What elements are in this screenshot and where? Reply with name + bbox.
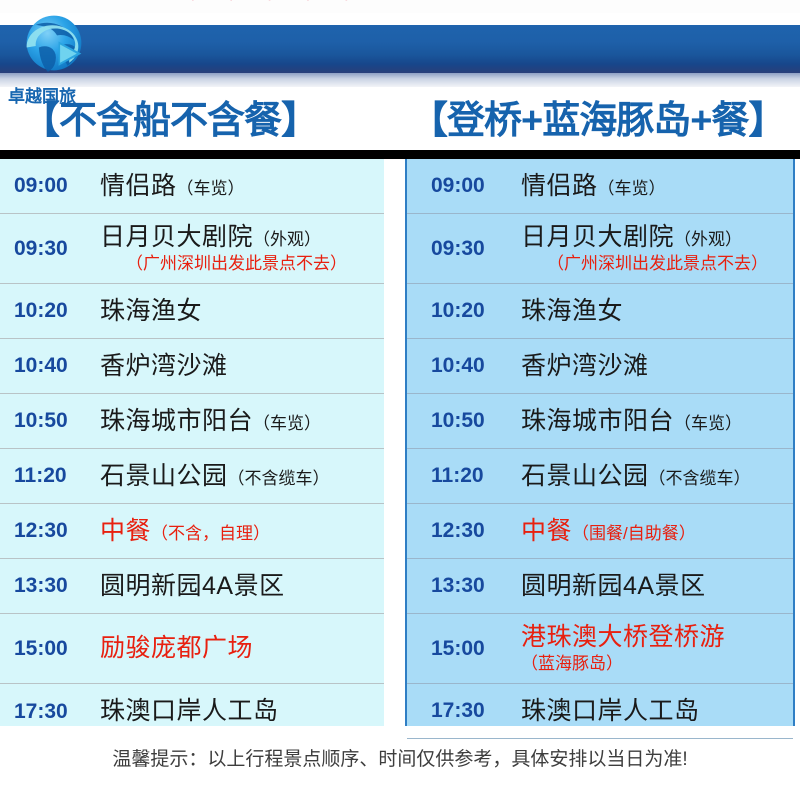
itinerary-time: 09:30 (14, 237, 100, 261)
itinerary-title: 日月贝大剧院 (521, 223, 674, 251)
itinerary-title: 珠海渔女 (521, 297, 623, 325)
itinerary-note: （不含，自理） (151, 524, 270, 543)
itinerary-row: 11:20石景山公园（不含缆车） (407, 449, 793, 504)
itinerary-time: 12:30 (14, 519, 100, 543)
globe-arrow-logo-icon (16, 8, 92, 84)
itinerary-description: 日月贝大剧院（外观）（广州深圳出发此景点不去） (521, 223, 793, 274)
itinerary-note: （外观） (253, 230, 321, 249)
itinerary-title: 圆明新园4A景区 (100, 572, 285, 600)
itinerary-description: 中餐（围餐/自助餐） (521, 517, 793, 546)
itinerary-description: 圆明新园4A景区 (100, 572, 384, 601)
itinerary-title: 圆明新园4A景区 (521, 572, 706, 600)
itinerary-description: 香炉湾沙滩 (100, 352, 384, 381)
itinerary-note: （车览） (253, 414, 321, 433)
itinerary-description: 情侣路（车览） (100, 172, 384, 201)
itinerary-title: 珠澳口岸人工岛 (521, 697, 700, 725)
itinerary-row: 09:00情侣路（车览） (0, 159, 384, 214)
itinerary-row: 10:50珠海城市阳台（车览） (0, 394, 384, 449)
itinerary-title: 日月贝大剧院 (100, 223, 253, 251)
itinerary-row: 10:50珠海城市阳台（车览） (407, 394, 793, 449)
itinerary-title: 中餐 (521, 517, 572, 545)
itinerary-title: 香炉湾沙滩 (521, 352, 649, 380)
itinerary-description: 港珠澳大桥登桥游（蓝海豚岛） (521, 623, 793, 674)
itinerary-note: （围餐/自助餐） (572, 524, 696, 543)
itinerary-description: 珠海城市阳台（车览） (521, 407, 793, 436)
itinerary-row: 10:40香炉湾沙滩 (407, 339, 793, 394)
itinerary-row: 09:30日月贝大剧院（外观）（广州深圳出发此景点不去） (0, 214, 384, 284)
itinerary-title: 石景山公园 (521, 462, 649, 490)
itinerary-title: 珠海城市阳台 (521, 407, 674, 435)
itinerary-row: 12:30中餐（围餐/自助餐） (407, 504, 793, 559)
left-package-title: 【不含船不含餐】 (22, 96, 318, 146)
itinerary-time: 09:00 (431, 174, 521, 198)
itinerary-subnote: （广州深圳出发此景点不去） (126, 254, 384, 274)
itinerary-note: （不含缆车） (649, 469, 751, 488)
itinerary-time: 11:20 (431, 464, 521, 488)
itinerary-time: 10:50 (431, 409, 521, 433)
itinerary-time: 10:50 (14, 409, 100, 433)
itinerary-note: （不含缆车） (228, 469, 330, 488)
right-package-title: 【登桥+蓝海豚岛+餐】 (410, 96, 785, 146)
itinerary-row: 10:20珠海渔女 (0, 284, 384, 339)
itinerary-note: （外观） (674, 230, 742, 249)
itinerary-time: 13:30 (14, 574, 100, 598)
itinerary-description: 珠海渔女 (521, 297, 793, 326)
itinerary-description: 中餐（不含，自理） (100, 517, 384, 546)
itinerary-row: 13:30圆明新园4A景区 (407, 559, 793, 614)
itinerary-title: 香炉湾沙滩 (100, 352, 228, 380)
itinerary-description: 香炉湾沙滩 (521, 352, 793, 381)
itinerary-description: 珠澳口岸人工岛 (521, 697, 793, 726)
itinerary-time: 11:20 (14, 464, 100, 488)
section-divider-bar (0, 150, 800, 159)
itinerary-title: 港珠澳大桥登桥游 (521, 623, 725, 651)
itinerary-row: 12:30中餐（不含，自理） (0, 504, 384, 559)
itinerary-description: 日月贝大剧院（外观）（广州深圳出发此景点不去） (100, 223, 384, 274)
itinerary-row: 10:40香炉湾沙滩 (0, 339, 384, 394)
itinerary-table-right: 09:00情侣路（车览）09:30日月贝大剧院（外观）（广州深圳出发此景点不去）… (405, 159, 795, 726)
itinerary-description: 珠海渔女 (100, 297, 384, 326)
company-logo: 卓越国旅 (8, 8, 124, 104)
itinerary-row: 11:20石景山公园（不含缆车） (0, 449, 384, 504)
itinerary-note: （车览） (674, 414, 742, 433)
itinerary-time: 17:30 (431, 699, 521, 723)
itinerary-tables: 09:00情侣路（车览）09:30日月贝大剧院（外观）（广州深圳出发此景点不去）… (0, 159, 800, 726)
itinerary-title: 情侣路 (521, 172, 598, 200)
itinerary-title: 珠海城市阳台 (100, 407, 253, 435)
itinerary-time: 13:30 (431, 574, 521, 598)
itinerary-time: 09:30 (431, 237, 521, 261)
itinerary-row: 09:00情侣路（车览） (407, 159, 793, 214)
itinerary-note: （车览） (177, 179, 245, 198)
itinerary-row: 15:00港珠澳大桥登桥游（蓝海豚岛） (407, 614, 793, 684)
itinerary-row: 13:30圆明新园4A景区 (0, 559, 384, 614)
itinerary-subnote: （广州深圳出发此景点不去） (547, 254, 793, 274)
itinerary-time: 17:30 (14, 700, 100, 724)
itinerary-title: 珠海渔女 (100, 297, 202, 325)
itinerary-row: 17:30珠澳口岸人工岛 (0, 684, 384, 739)
itinerary-description: 圆明新园4A景区 (521, 572, 793, 601)
itinerary-time: 10:20 (14, 299, 100, 323)
itinerary-time: 12:30 (431, 519, 521, 543)
itinerary-title: 石景山公园 (100, 462, 228, 490)
itinerary-row: 15:00励骏庞都广场 (0, 614, 384, 684)
itinerary-row: 09:30日月贝大剧院（外观）（广州深圳出发此景点不去） (407, 214, 793, 284)
itinerary-row: 10:20珠海渔女 (407, 284, 793, 339)
itinerary-description: 珠澳口岸人工岛 (100, 697, 384, 726)
itinerary-description: 情侣路（车览） (521, 172, 793, 201)
headline-row: 【不含船不含餐】 【登桥+蓝海豚岛+餐】 (0, 96, 800, 150)
cutoff-text: · · · · · (190, 0, 363, 9)
itinerary-title: 励骏庞都广场 (100, 634, 253, 662)
itinerary-time: 15:00 (431, 637, 521, 661)
itinerary-subnote: （蓝海豚岛） (521, 654, 793, 674)
itinerary-time: 10:40 (14, 354, 100, 378)
itinerary-time: 10:40 (431, 354, 521, 378)
itinerary-description: 珠海城市阳台（车览） (100, 407, 384, 436)
itinerary-note: （车览） (598, 179, 666, 198)
itinerary-description: 石景山公园（不含缆车） (521, 462, 793, 491)
itinerary-title: 中餐 (100, 517, 151, 545)
itinerary-time: 10:20 (431, 299, 521, 323)
itinerary-title: 情侣路 (100, 172, 177, 200)
itinerary-time: 09:00 (14, 174, 100, 198)
itinerary-title: 珠澳口岸人工岛 (100, 697, 279, 725)
itinerary-row: 17:30珠澳口岸人工岛 (407, 684, 793, 739)
footer-tip: 温馨提示：以上行程景点顺序、时间仅供参考，具体安排以当日为准! (0, 744, 800, 771)
itinerary-table-left: 09:00情侣路（车览）09:30日月贝大剧院（外观）（广州深圳出发此景点不去）… (0, 159, 384, 726)
itinerary-description: 励骏庞都广场 (100, 634, 384, 663)
itinerary-time: 15:00 (14, 637, 100, 661)
itinerary-description: 石景山公园（不含缆车） (100, 462, 384, 491)
